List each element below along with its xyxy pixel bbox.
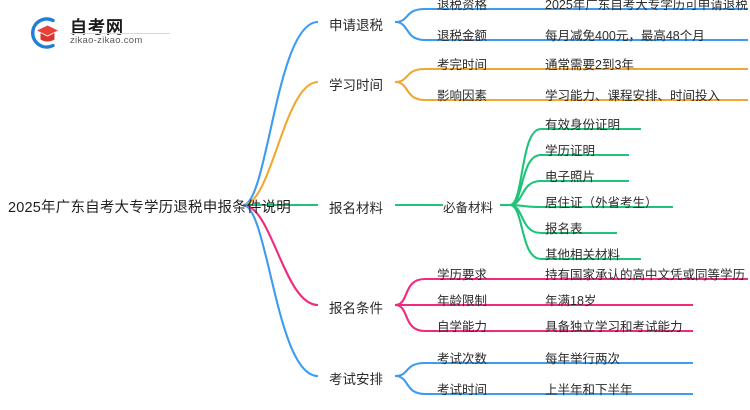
node-detail-nianlingxianzhi[interactable]: 年满18岁 [545,290,596,309]
node-label-kaowanshijian[interactable]: 考完时间 [437,54,487,73]
node-label-nianlingxianzhi[interactable]: 年龄限制 [437,290,487,309]
node-label-kaoshicishu[interactable]: 考试次数 [437,348,487,367]
leaf-xuelizhengming[interactable]: 学历证明 [545,140,595,159]
branch-label-baomingcailiao[interactable]: 报名材料 [329,197,383,217]
node-label-yingxiangyinsu[interactable]: 影响因素 [437,85,487,104]
node-label-tuishuijine[interactable]: 退税金额 [437,25,487,44]
mindmap-root-title[interactable]: 2025年广东自考大专学历退税申报条件说明 [8,196,291,217]
leaf-baomingbiao[interactable]: 报名表 [545,218,583,237]
branch-label-shenqingtuishui[interactable]: 申请退税 [329,14,383,34]
branch-label-kaoshianpai[interactable]: 考试安排 [329,368,383,388]
site-logo: 自考网 zikao-zikao.com [26,12,171,54]
leaf-juzhuzheng[interactable]: 居住证（外省考生） [545,192,658,211]
node-label-bibeicailiao[interactable]: 必备材料 [443,197,493,216]
node-detail-tuishuijine[interactable]: 每月减免400元，最高48个月 [545,25,705,44]
node-detail-kaoshishijian[interactable]: 上半年和下半年 [545,379,633,398]
leaf-dianzizhaopian[interactable]: 电子照片 [545,166,595,185]
mindmap-canvas: 自考网 zikao-zikao.com [0,0,750,410]
leaf-qitaxiangguancailiao[interactable]: 其他相关材料 [545,244,620,263]
logo-divider [70,33,170,34]
node-detail-kaowanshijian[interactable]: 通常需要2到3年 [545,54,634,73]
branch-label-baomingtiaojian[interactable]: 报名条件 [329,297,383,317]
logo-url-text: zikao-zikao.com [70,35,143,46]
node-label-tuishuizige[interactable]: 退税资格 [437,0,487,13]
branch-label-xuexishijian[interactable]: 学习时间 [329,74,383,94]
node-detail-tuishuizige[interactable]: 2025年广东自考大专学历可申请退税 [545,0,748,13]
logo-mark-icon [26,14,64,52]
node-detail-yingxiangyinsu[interactable]: 学习能力、课程安排、时间投入 [545,85,720,104]
leaf-youxiaoshenfenzhengming[interactable]: 有效身份证明 [545,114,620,133]
node-detail-kaoshicishu[interactable]: 每年举行两次 [545,348,620,367]
node-detail-xueliyaoqiu[interactable]: 持有国家承认的高中文凭或同等学历 [545,264,745,283]
node-label-kaoshishijian[interactable]: 考试时间 [437,379,487,398]
node-label-zixuenengli[interactable]: 自学能力 [437,316,487,335]
node-label-xueliyaoqiu[interactable]: 学历要求 [437,264,487,283]
node-detail-zixuenengli[interactable]: 具备独立学习和考试能力 [545,316,683,335]
